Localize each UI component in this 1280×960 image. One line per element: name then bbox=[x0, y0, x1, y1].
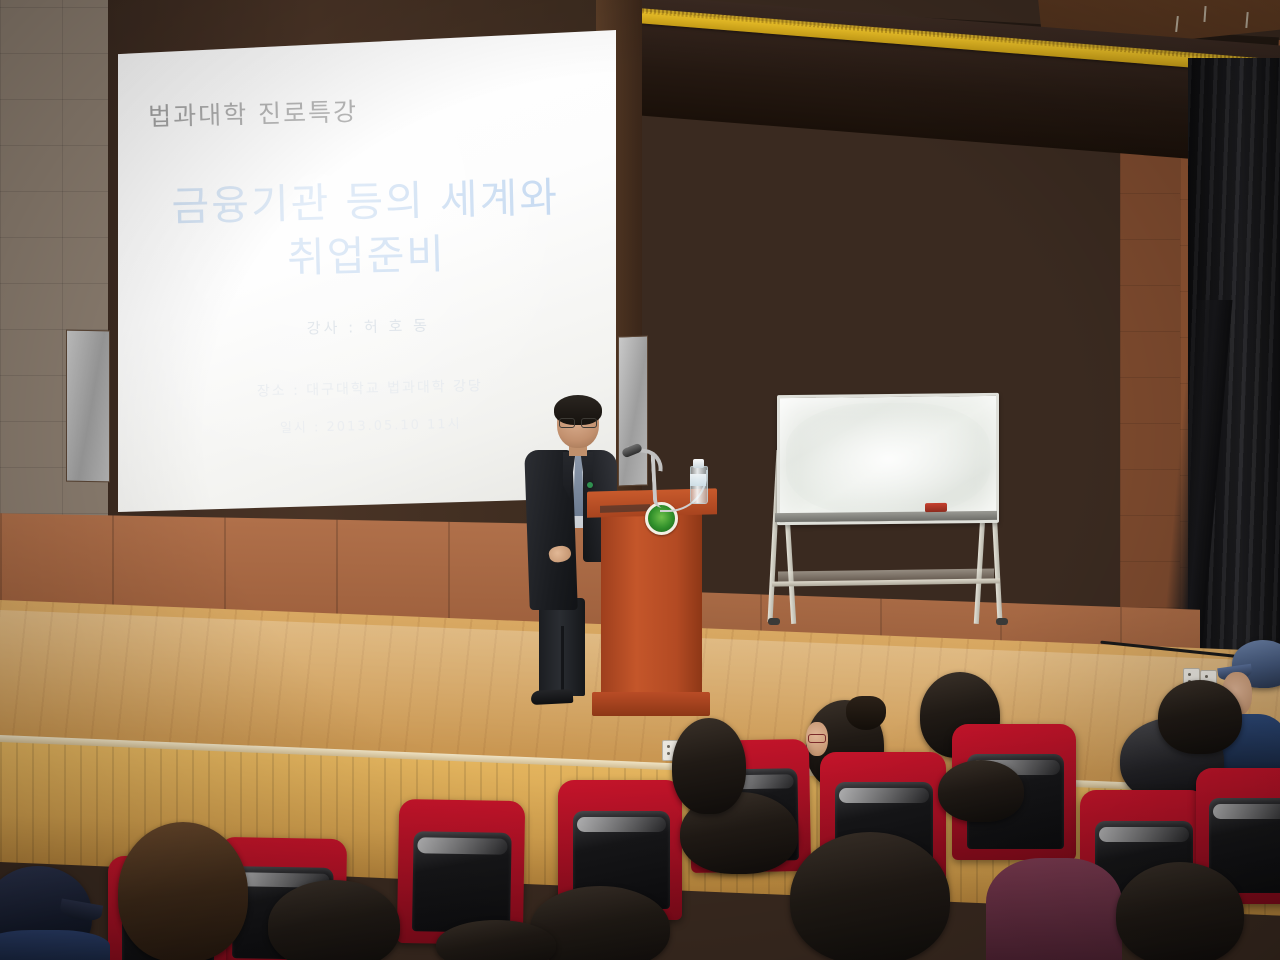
water-bottle-label bbox=[690, 474, 706, 486]
water-bottle-cap bbox=[693, 459, 704, 468]
attendee-head-dark-f bbox=[938, 760, 1024, 822]
whiteboard-foot bbox=[996, 618, 1008, 625]
attendee-long-hair bbox=[118, 822, 248, 960]
attendee-shoulder bbox=[986, 858, 1122, 960]
attendee-head-dark-right bbox=[1158, 680, 1242, 754]
auditorium-photo: 법과대학 진로특강 금융기관 등의 세계와 취업준비 강사 : 허 호 동 장소… bbox=[0, 0, 1280, 960]
whiteboard-foot bbox=[768, 618, 780, 625]
presenter-leg-gap bbox=[561, 626, 564, 696]
attendee-shoulder bbox=[0, 930, 110, 960]
podium-body bbox=[601, 512, 702, 704]
podium-base bbox=[592, 692, 710, 716]
slide-header-text: 법과대학 진로특강 bbox=[148, 92, 359, 133]
slide-speaker-line: 강사 : 허 호 동 bbox=[119, 310, 616, 343]
presenter-shoe bbox=[531, 689, 574, 705]
attendee-glasses-icon bbox=[808, 734, 826, 743]
presenter-glasses bbox=[559, 418, 597, 427]
slide-title: 금융기관 등의 세계와 취업준비 bbox=[118, 169, 616, 289]
whiteboard-surface bbox=[777, 393, 999, 525]
presenter-lapel-pin bbox=[587, 482, 593, 488]
attendee-hair-bun bbox=[846, 696, 886, 730]
attendee-head-dark-e bbox=[790, 832, 950, 960]
seat-panel bbox=[412, 831, 512, 933]
wall-speaker-panel-left bbox=[66, 330, 110, 483]
attendee-head-dark-h bbox=[672, 718, 746, 814]
attendee-head-dark-a bbox=[268, 880, 400, 960]
whiteboard-eraser bbox=[925, 503, 947, 512]
attendee-head-dark-g bbox=[1116, 862, 1244, 960]
